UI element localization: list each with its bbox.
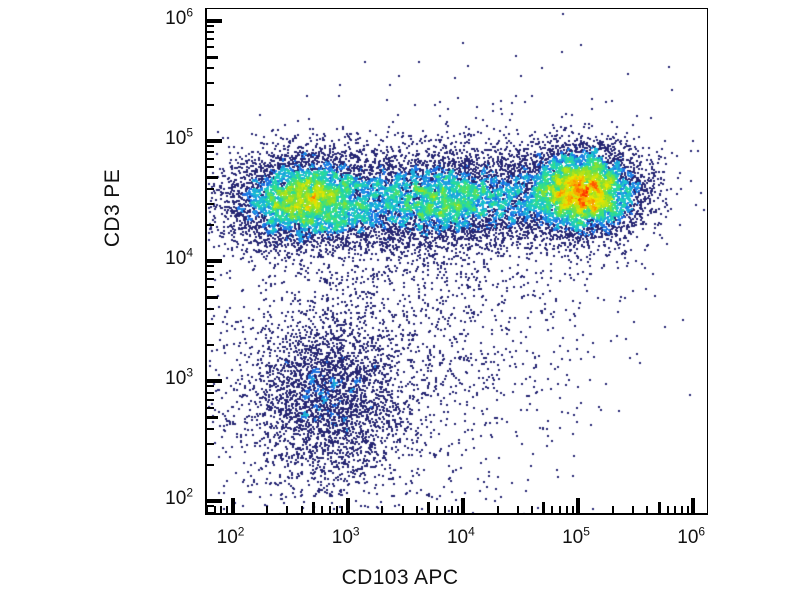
x-tick-label: 105	[546, 528, 606, 547]
plot-area	[205, 8, 708, 515]
x-tick	[220, 506, 222, 513]
x-tick	[231, 498, 235, 513]
y-tick	[207, 286, 214, 288]
y-tick	[207, 25, 214, 27]
x-tick	[341, 506, 343, 513]
y-tick	[207, 145, 214, 147]
x-tick	[402, 506, 404, 513]
x-tick	[531, 506, 533, 513]
x-tick	[381, 506, 383, 513]
y-tick	[207, 19, 222, 23]
y-tick	[207, 416, 218, 419]
x-tick	[691, 498, 695, 513]
y-tick	[207, 38, 214, 40]
x-tick	[646, 506, 648, 513]
x-tick	[286, 506, 288, 513]
x-tick	[336, 506, 338, 513]
y-axis-title: CD3 PE	[101, 128, 125, 288]
x-tick	[461, 498, 465, 513]
y-tick	[207, 46, 214, 48]
x-tick	[444, 506, 446, 513]
y-tick	[207, 56, 218, 59]
x-axis-title: CD103 APC	[0, 566, 800, 590]
y-tick	[207, 344, 214, 346]
y-tick	[207, 82, 214, 84]
x-tick	[572, 506, 574, 513]
x-tick-label: 104	[431, 528, 491, 547]
y-tick	[207, 151, 214, 153]
x-tick	[667, 506, 669, 513]
y-tick	[207, 176, 218, 179]
x-tick	[301, 506, 303, 513]
y-tick	[207, 158, 214, 160]
y-tick	[207, 499, 222, 503]
x-tick	[457, 506, 459, 513]
y-tick-label: 103	[133, 369, 193, 388]
y-tick	[207, 399, 214, 401]
x-tick	[321, 506, 323, 513]
x-tick-label: 106	[661, 528, 721, 547]
y-tick-label: 102	[133, 489, 193, 508]
y-tick	[207, 224, 214, 226]
x-tick	[612, 506, 614, 513]
x-tick	[674, 506, 676, 513]
y-tick	[207, 443, 214, 445]
x-tick	[329, 506, 331, 513]
y-tick	[207, 188, 214, 190]
x-tick	[214, 506, 216, 513]
y-tick	[207, 104, 214, 106]
flow-cytometry-figure: 102103104105106 102103104105106 CD3 PE C…	[0, 0, 800, 600]
y-tick	[207, 203, 214, 205]
y-tick	[207, 323, 214, 325]
y-tick	[207, 31, 214, 33]
x-tick-label: 102	[201, 528, 261, 547]
x-tick	[451, 506, 453, 513]
x-tick	[416, 506, 418, 513]
y-tick	[207, 67, 214, 69]
y-tick	[207, 464, 214, 466]
x-tick	[517, 506, 519, 513]
y-tick	[207, 392, 214, 394]
x-tick	[566, 506, 568, 513]
x-tick	[497, 506, 499, 513]
x-tick	[681, 506, 683, 513]
y-tick	[207, 139, 222, 143]
scatter-canvas	[207, 9, 708, 515]
x-tick	[559, 506, 561, 513]
y-tick-label: 105	[133, 129, 193, 148]
x-tick-label: 103	[316, 528, 376, 547]
y-tick-label: 104	[133, 249, 193, 268]
x-tick	[576, 498, 580, 513]
y-tick	[207, 259, 222, 263]
x-tick	[658, 502, 661, 513]
x-tick	[632, 506, 634, 513]
y-tick-label: 106	[133, 9, 193, 28]
y-tick	[207, 278, 214, 280]
x-tick	[687, 506, 689, 513]
y-tick	[207, 308, 214, 310]
y-tick	[207, 166, 214, 168]
x-tick	[266, 506, 268, 513]
y-tick	[207, 407, 214, 409]
y-tick	[207, 296, 218, 299]
y-tick	[207, 385, 214, 387]
x-tick	[436, 506, 438, 513]
y-tick	[207, 271, 214, 273]
x-tick	[312, 502, 315, 513]
x-tick	[206, 506, 208, 513]
y-tick	[207, 265, 214, 267]
x-tick	[551, 506, 553, 513]
y-tick	[207, 428, 214, 430]
x-tick	[427, 502, 430, 513]
x-tick	[542, 502, 545, 513]
y-tick	[207, 379, 222, 383]
x-tick	[226, 506, 228, 513]
x-tick	[346, 498, 350, 513]
